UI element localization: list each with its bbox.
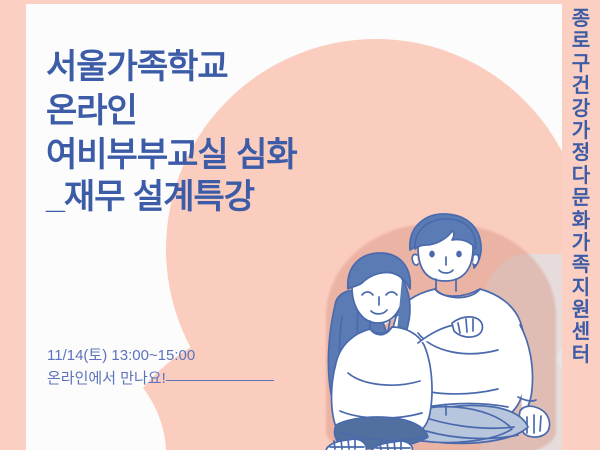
organizer-char-3: 건 <box>564 75 598 97</box>
organizer-char-5: 가 <box>564 120 598 142</box>
organizer-char-11: 족 <box>564 254 598 276</box>
left-border-strip <box>0 0 26 450</box>
headline-line-2: 온라인 <box>46 94 466 128</box>
schedule-datetime: 11/14(토) 13:00~15:00 <box>47 344 274 367</box>
headline-line-3: 여비부부교실 심화 <box>46 138 466 172</box>
organizer-char-4: 강 <box>564 98 598 120</box>
schedule-channel-row: 온라인에서 만나요! <box>47 367 274 390</box>
organizer-char-0: 종 <box>564 8 598 30</box>
organizer-char-6: 정 <box>564 142 598 164</box>
organizer-char-8: 문 <box>564 187 598 209</box>
poster-root: 서울가족학교 온라인 여비부부교실 심화 _재무 설계특강 11/14(토) 1… <box>0 0 600 450</box>
schedule-block: 11/14(토) 13:00~15:00 온라인에서 만나요! <box>47 344 274 391</box>
organizer-char-7: 다 <box>564 165 598 187</box>
organizer-char-1: 로 <box>564 30 598 52</box>
organizer-char-12: 지 <box>564 277 598 299</box>
schedule-channel: 온라인에서 만나요! <box>47 370 166 387</box>
organizer-char-10: 가 <box>564 232 598 254</box>
headline-line-1: 서울가족학교 <box>46 50 466 84</box>
schedule-blank-rule <box>166 380 274 381</box>
organizer-char-2: 구 <box>564 53 598 75</box>
organizer-vertical-text: 종로구건강가정다문화가족지원센터 <box>564 8 598 366</box>
seated-couple-illustration <box>322 205 572 450</box>
headline-line-4: _재무 설계특강 <box>46 180 466 214</box>
organizer-char-14: 센 <box>564 321 598 343</box>
organizer-char-9: 화 <box>564 210 598 232</box>
organizer-char-13: 원 <box>564 299 598 321</box>
poster-headline: 서울가족학교 온라인 여비부부교실 심화 _재무 설계특강 <box>46 50 466 214</box>
organizer-char-15: 터 <box>564 344 598 366</box>
